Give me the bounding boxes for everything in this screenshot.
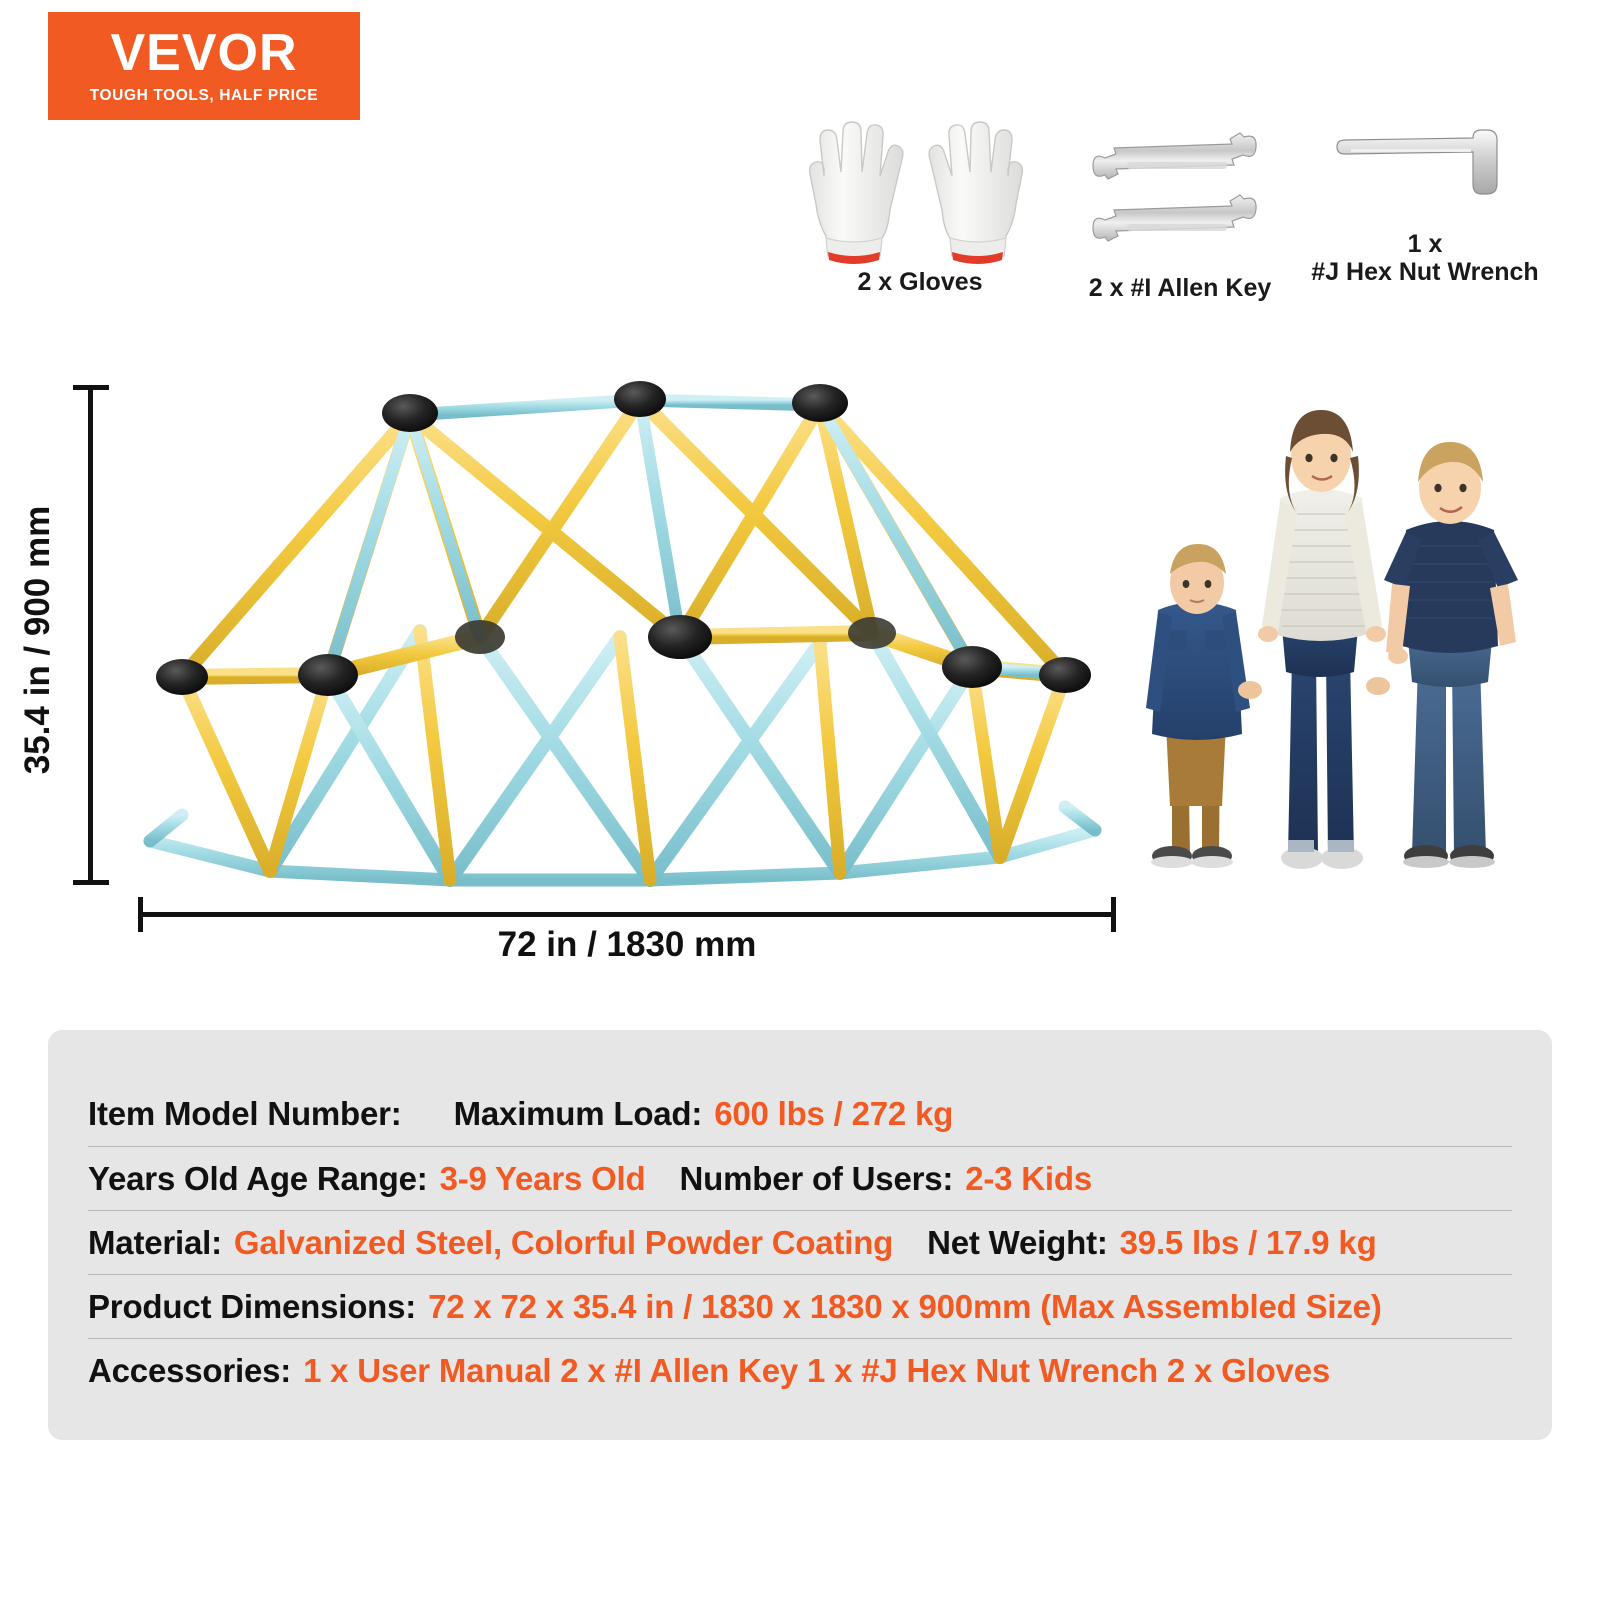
spec-key-age-range: Years Old Age Range: [88,1160,428,1198]
spec-key-item-model-number: Item Model Number: [88,1095,402,1133]
spec-value-maximum-load: 600 lbs / 272 kg [714,1095,953,1133]
accessory-hex-nut-wrench-label-1: 1 x [1300,230,1550,258]
hex-key-art [1300,118,1550,230]
gloves-icon [804,118,908,266]
gloves-icon [924,118,1028,266]
child-boy [1384,442,1518,868]
spec-row-4: Product Dimensions: 72 x 72 x 35.4 in / … [88,1274,1512,1338]
height-dimension-cap-top [73,385,109,390]
spec-key-net-weight: Net Weight: [927,1224,1108,1262]
spec-value-product-dimensions: 72 x 72 x 35.4 in / 1830 x 1830 x 900mm … [428,1288,1382,1326]
accessory-gloves: 2 x Gloves [790,118,1050,296]
spec-row-2: Years Old Age Range: 3-9 Years Old Numbe… [88,1146,1512,1210]
width-dimension-line [138,912,1116,917]
spec-row-5: Accessories: 1 x User Manual 2 x #I Alle… [88,1338,1512,1402]
dome-frame-svg [120,375,1120,895]
accessory-gloves-label: 2 x Gloves [790,268,1050,296]
accessory-hex-nut-wrench-label-2: #J Hex Nut Wrench [1300,258,1550,286]
child-girl [1258,410,1386,869]
height-dimension-line [88,385,93,885]
brand-name: VEVOR [110,27,297,79]
accessory-allen-key-label: 2 x #I Allen Key [1060,274,1300,302]
brand-tagline: TOUGH TOOLS, HALF PRICE [90,87,319,105]
spec-value-age-range: 3-9 Years Old [440,1160,646,1198]
accessory-hex-nut-wrench: 1 x #J Hex Nut Wrench [1300,118,1550,286]
kids-illustration [1110,378,1560,888]
width-dimension-label: 72 in / 1830 mm [138,925,1116,965]
height-dimension-label: 35.4 in / 900 mm [18,440,58,840]
spec-key-accessories: Accessories: [88,1352,291,1390]
spec-value-net-weight: 39.5 lbs / 17.9 kg [1120,1224,1377,1262]
climbing-dome-product-image [120,375,1120,895]
specification-panel: Item Model Number: Maximum Load: 600 lbs… [48,1030,1552,1440]
spec-value-material: Galvanized Steel, Colorful Powder Coatin… [234,1224,893,1262]
wrench-art [1060,124,1300,274]
spec-key-material: Material: [88,1224,222,1262]
accessory-allen-key: 2 x #I Allen Key [1060,124,1300,302]
spec-row-3: Material: Galvanized Steel, Colorful Pow… [88,1210,1512,1274]
kids-scale-reference-photo [1110,378,1560,888]
spec-value-accessories: 1 x User Manual 2 x #I Allen Key 1 x #J … [303,1352,1330,1390]
spec-key-number-of-users: Number of Users: [680,1160,954,1198]
spec-key-maximum-load: Maximum Load: [454,1095,703,1133]
spec-value-number-of-users: 2-3 Kids [965,1160,1092,1198]
hex-key-icon [1325,118,1525,230]
child-toddler [1146,544,1250,868]
accessories-strip: 2 x Gloves [780,118,1550,338]
vevor-logo: VEVOR TOUGH TOOLS, HALF PRICE [48,12,360,120]
gloves-art [790,118,1050,268]
height-dimension-cap-bottom [73,880,109,885]
spec-key-product-dimensions: Product Dimensions: [88,1288,416,1326]
wrench-icon [1075,124,1285,268]
spec-row-1: Item Model Number: Maximum Load: 600 lbs… [88,1082,1512,1146]
